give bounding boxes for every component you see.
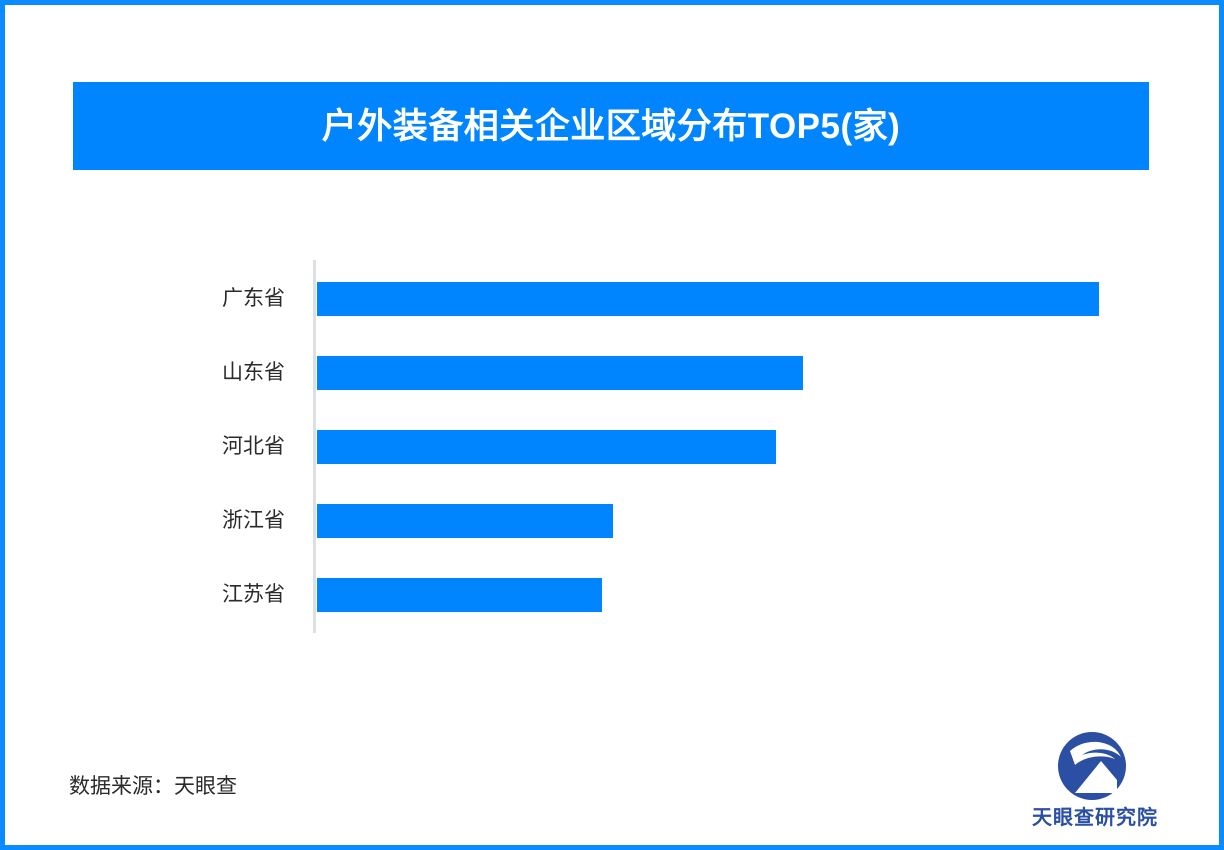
table-row: 江苏省 — [5, 578, 1224, 612]
infographic-page: 户外装备相关企业区域分布TOP5(家) 广东省 山东省 河北省 浙江省 — [0, 0, 1224, 850]
bar-chart: 广东省 山东省 河北省 浙江省 江苏省 — [5, 253, 1224, 643]
bar-2 — [317, 430, 776, 464]
page-title: 户外装备相关企业区域分布TOP5(家) — [322, 109, 901, 144]
bar-label-0: 广东省 — [5, 282, 285, 316]
brand-wordmark: 天眼查研究院 — [1009, 801, 1181, 830]
bar-track-1 — [317, 356, 1099, 390]
data-source-note: 数据来源：天眼查 — [69, 770, 237, 800]
bar-track-3 — [317, 504, 1099, 538]
bar-label-2: 河北省 — [5, 430, 285, 464]
table-row: 广东省 — [5, 282, 1224, 316]
title-banner: 户外装备相关企业区域分布TOP5(家) — [73, 82, 1149, 170]
brand-logo: 天眼查研究院 — [1009, 731, 1181, 827]
bar-track-4 — [317, 578, 1099, 612]
bar-label-1: 山东省 — [5, 356, 285, 390]
table-row: 浙江省 — [5, 504, 1224, 538]
bar-label-4: 江苏省 — [5, 578, 285, 612]
bar-3 — [317, 504, 613, 538]
bar-track-0 — [317, 282, 1099, 316]
table-row: 河北省 — [5, 430, 1224, 464]
bar-4 — [317, 578, 602, 612]
tianyancha-logo-icon — [1055, 731, 1129, 801]
table-row: 山东省 — [5, 356, 1224, 390]
bar-1 — [317, 356, 803, 390]
bar-label-3: 浙江省 — [5, 504, 285, 538]
bar-0 — [317, 282, 1099, 316]
bar-track-2 — [317, 430, 1099, 464]
